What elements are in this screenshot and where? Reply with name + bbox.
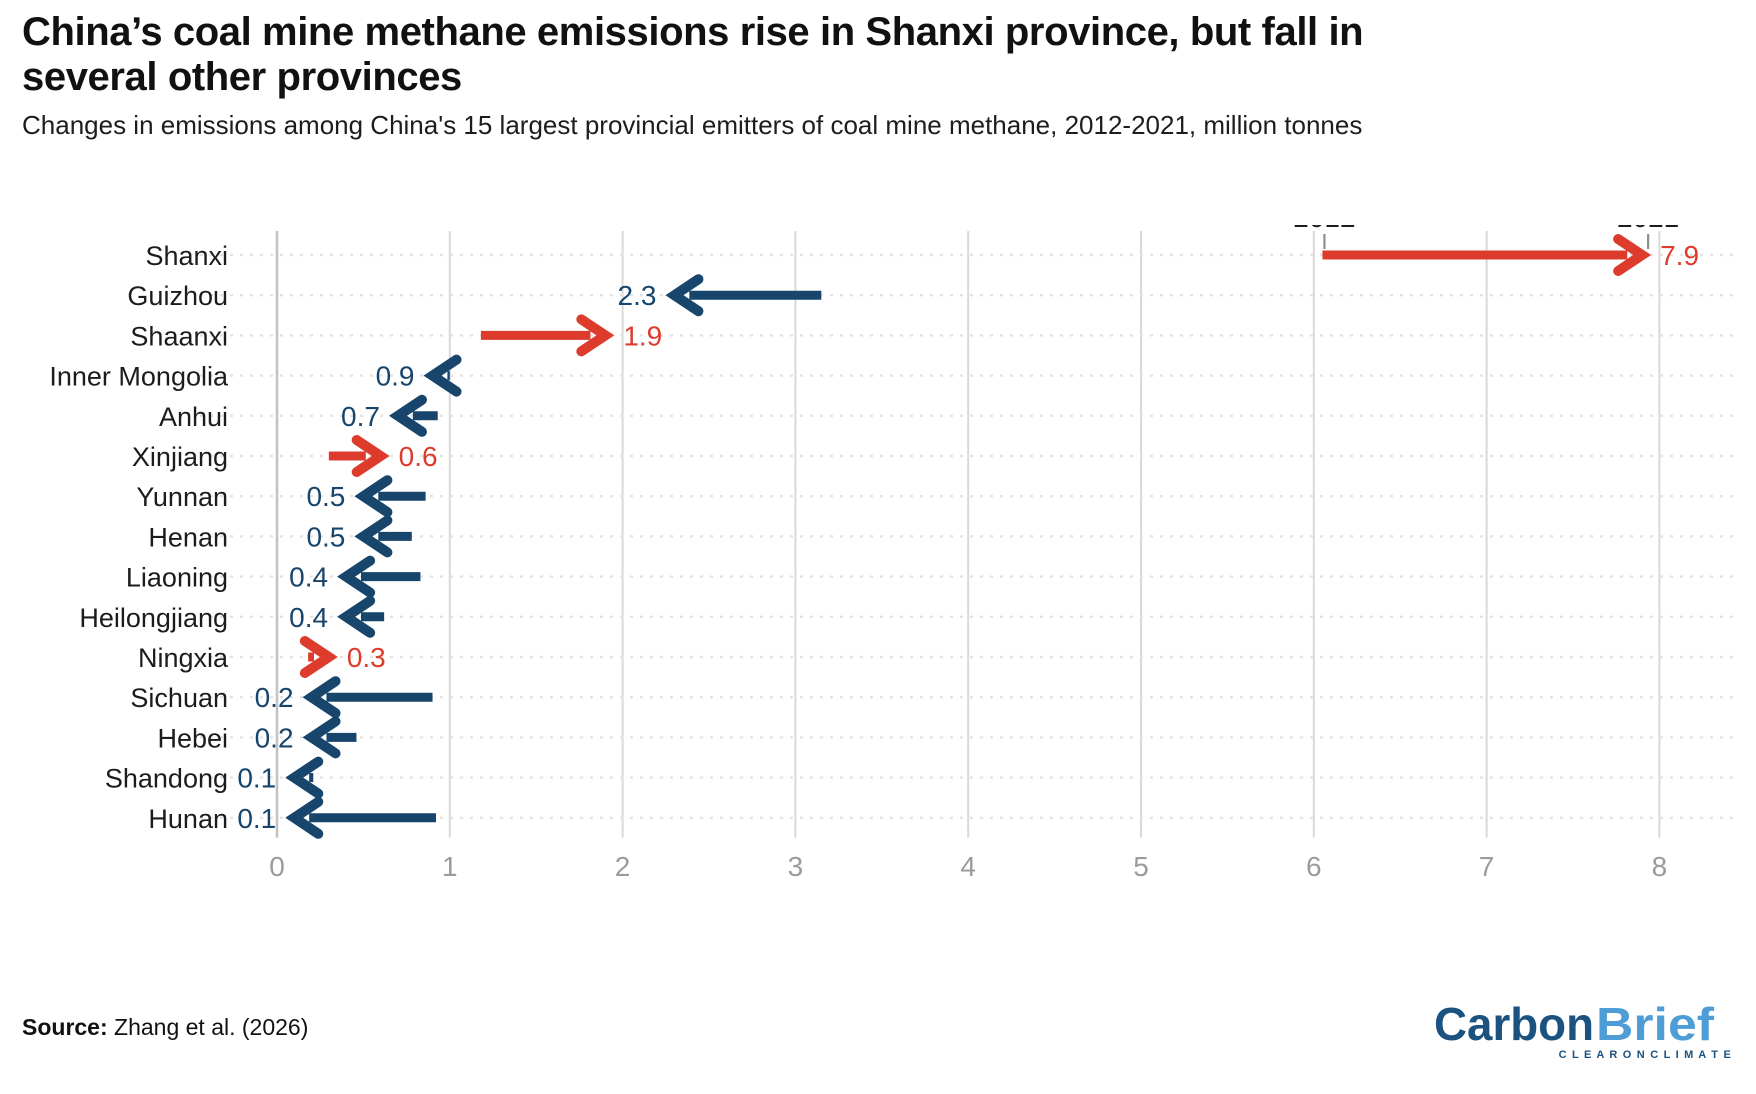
x-tick-label-8: 8 (1652, 851, 1668, 882)
category-label-anhui: Anhui (159, 402, 228, 432)
category-label-hebei: Hebei (157, 723, 228, 753)
value-label: 2.3 (618, 280, 657, 311)
x-tick-label-7: 7 (1479, 851, 1495, 882)
value-label: 0.5 (306, 481, 345, 512)
x-tick-label-5: 5 (1133, 851, 1149, 882)
value-label: 0.4 (289, 562, 328, 593)
arrow-xinjiang (329, 440, 381, 472)
arrow-anhui (398, 400, 438, 432)
category-label-shaanxi: Shaanxi (130, 321, 228, 351)
category-label-heilongjiang: Heilongjiang (79, 603, 228, 633)
year-label-2021: 2021 (1617, 225, 1679, 233)
x-tick-label-4: 4 (960, 851, 976, 882)
source-value: Zhang et al. (2026) (114, 1014, 308, 1040)
value-label: 0.1 (237, 763, 276, 794)
category-label-inner-mongolia: Inner Mongolia (49, 362, 229, 392)
value-label: 0.2 (255, 682, 294, 713)
arrow-shandong (294, 762, 318, 794)
arrow-heilongjiang (346, 601, 384, 633)
category-label-liaoning: Liaoning (126, 563, 228, 593)
value-label: 0.5 (306, 521, 345, 552)
page-title: China’s coal mine methane emissions rise… (22, 10, 1462, 100)
value-label: 0.2 (255, 722, 294, 753)
arrow-sichuan (312, 681, 433, 713)
value-label: 0.6 (399, 441, 438, 472)
arrow-ningxia (305, 641, 329, 673)
arrow-shanxi (1322, 239, 1642, 271)
x-tick-label-1: 1 (442, 851, 458, 882)
source-label: Source: (22, 1014, 108, 1040)
value-label: 1.9 (623, 320, 662, 351)
logo-text-carbon: Carbon (1434, 1000, 1594, 1050)
arrow-shaanxi (481, 319, 605, 351)
value-label: 0.3 (347, 642, 386, 673)
chart-header: China’s coal mine methane emissions rise… (22, 10, 1722, 142)
category-label-hunan: Hunan (148, 804, 228, 834)
x-tick-label-3: 3 (788, 851, 804, 882)
value-label: 0.7 (341, 401, 380, 432)
category-label-shandong: Shandong (105, 764, 228, 794)
arrow-hunan (294, 802, 436, 834)
arrow-liaoning (346, 561, 420, 593)
category-label-guizhou: Guizhou (127, 281, 228, 311)
chart-x-axis: 012345678 (269, 851, 1667, 882)
x-tick-label-0: 0 (269, 851, 285, 882)
logo-text-brief: Brief (1596, 1000, 1715, 1050)
carbonbrief-logo: Carbon Brief C L E A R O N C L I M A T E (1434, 1000, 1734, 1062)
source-note: Source: Zhang et al. (2026) (22, 1014, 308, 1041)
value-label: 0.4 (289, 602, 328, 633)
x-tick-label-6: 6 (1306, 851, 1322, 882)
arrow-hebei (312, 721, 357, 753)
chart-category-labels: ShanxiGuizhouShaanxiInner MongoliaAnhuiX… (49, 241, 229, 834)
year-label-2012: 2012 (1293, 225, 1355, 233)
arrow-guizhou (674, 279, 821, 311)
value-label: 0.1 (237, 803, 276, 834)
chart-subtitle: Changes in emissions among China's 15 la… (22, 110, 1722, 141)
arrow-change-chart: 7.92.31.90.90.70.60.50.50.40.40.30.20.20… (0, 225, 1756, 945)
logo-tagline: C L E A R O N C L I M A T E (1559, 1049, 1732, 1061)
arrow-head (294, 762, 318, 794)
chart-gridlines (277, 231, 1659, 838)
category-label-yunnan: Yunnan (136, 482, 228, 512)
category-label-shanxi: Shanxi (145, 241, 228, 271)
value-label: 0.9 (376, 361, 415, 392)
arrow-henan (363, 520, 411, 552)
chart-row-guides (200, 255, 1740, 818)
chart-plot-area: 7.92.31.90.90.70.60.50.50.40.40.30.20.20… (0, 225, 1756, 945)
category-label-henan: Henan (148, 522, 228, 552)
category-label-xinjiang: Xinjiang (132, 442, 228, 472)
category-label-ningxia: Ningxia (138, 643, 229, 673)
value-label: 7.9 (1660, 240, 1699, 271)
category-label-sichuan: Sichuan (130, 683, 228, 713)
x-tick-label-2: 2 (615, 851, 631, 882)
